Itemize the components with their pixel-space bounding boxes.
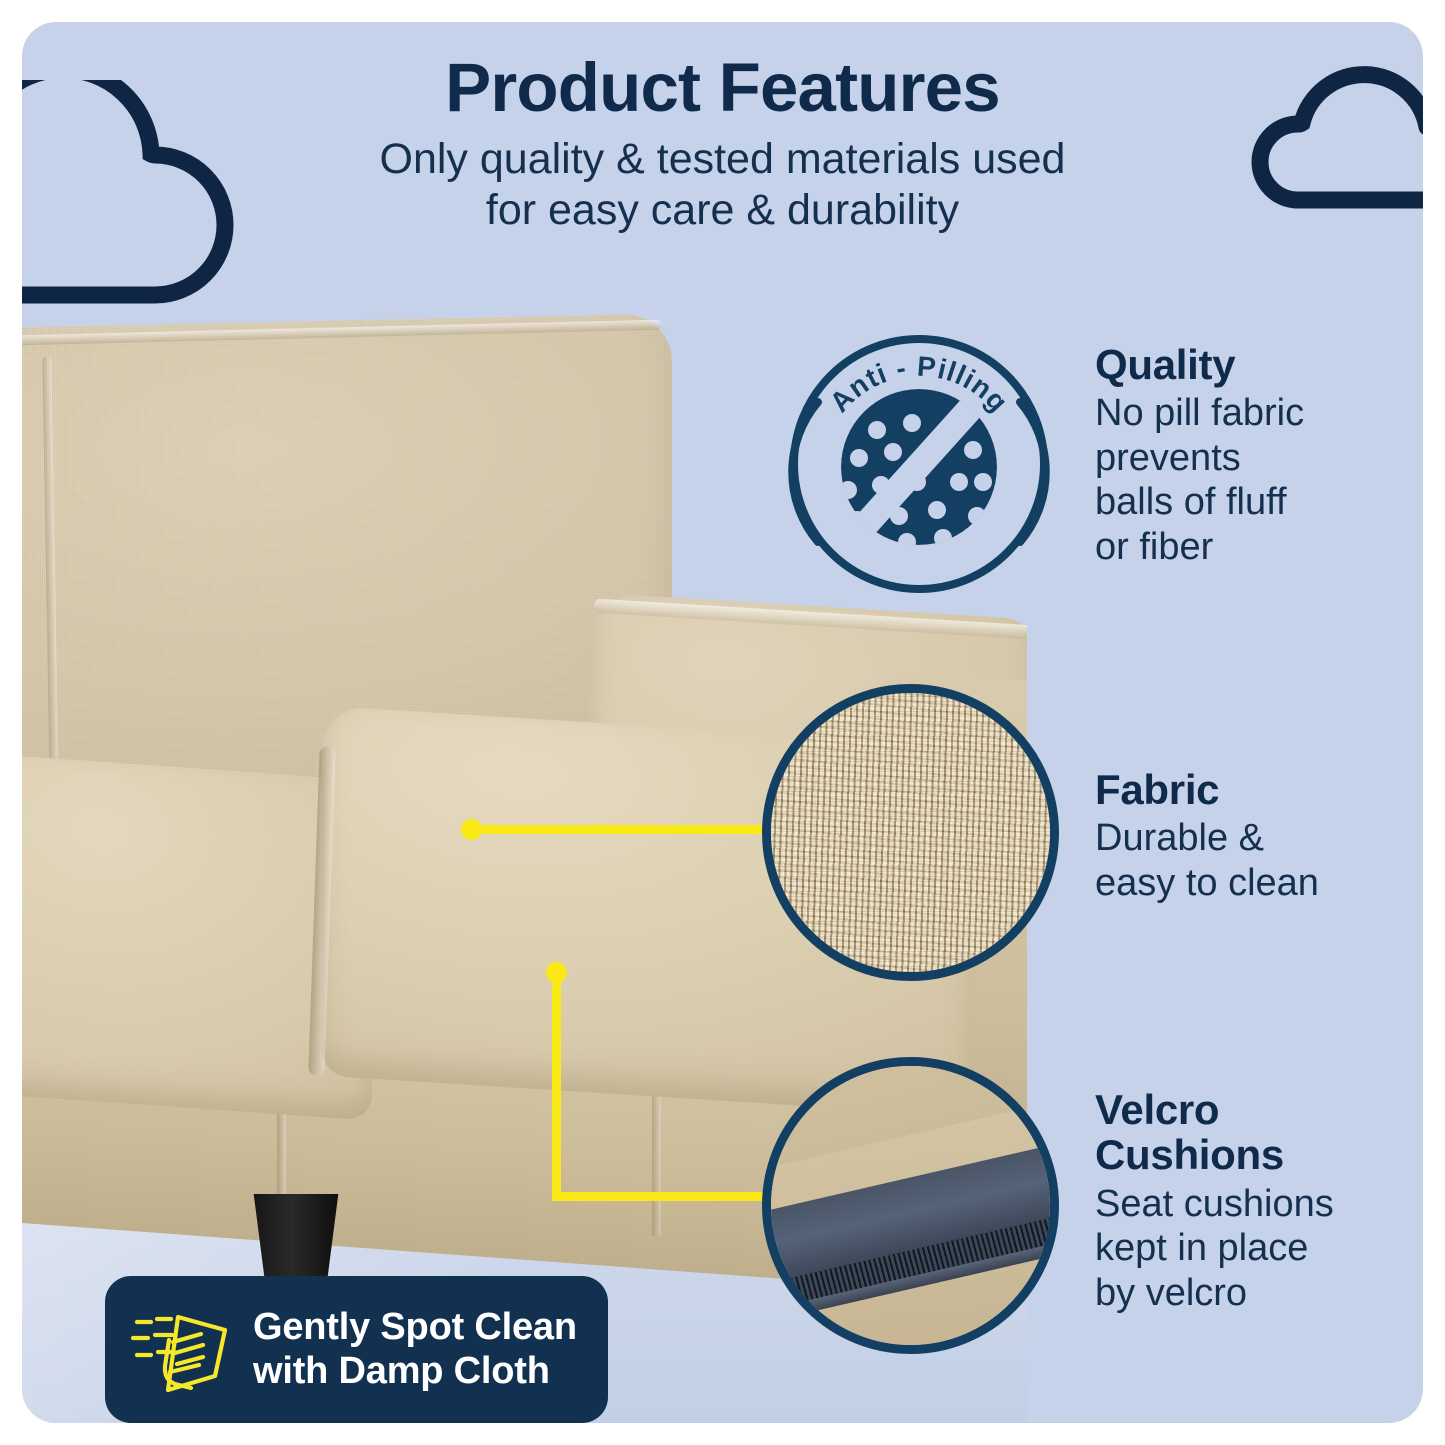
feature-body: Durable & easy to clean [1095, 816, 1395, 905]
feature-body-line: prevents [1095, 436, 1395, 480]
feature-title: Velcro Cushions [1095, 1087, 1395, 1178]
connector-line [552, 972, 561, 1200]
feature-quality: Quality No pill fabric prevents balls of… [1095, 342, 1395, 569]
fabric-texture [762, 684, 1059, 981]
connector-line [552, 1192, 774, 1201]
feature-body-line: or fiber [1095, 525, 1395, 569]
feature-body-line: Durable & [1095, 816, 1395, 860]
care-line-1: Gently Spot Clean [253, 1306, 577, 1349]
feature-body-line: No pill fabric [1095, 391, 1395, 435]
connector-line [471, 825, 771, 834]
feature-body: Seat cushions kept in place by velcro [1095, 1182, 1395, 1315]
feature-body-line: Seat cushions [1095, 1182, 1395, 1226]
feature-title: Fabric [1095, 767, 1395, 812]
wiping-hand-cloth-icon [131, 1300, 239, 1400]
infographic-canvas: Product Features Only quality & tested m… [0, 0, 1445, 1445]
anti-pilling-icon: Anti - Pilling [787, 330, 1052, 595]
care-instruction-badge: Gently Spot Clean with Damp Cloth [105, 1276, 608, 1423]
feature-body-line: easy to clean [1095, 861, 1395, 905]
feature-body-line: kept in place [1095, 1226, 1395, 1270]
feature-body-line: balls of fluff [1095, 480, 1395, 524]
fabric-closeup-lens [762, 684, 1059, 981]
feature-fabric: Fabric Durable & easy to clean [1095, 767, 1395, 905]
feature-body: No pill fabric prevents balls of fluff o… [1095, 391, 1395, 569]
feature-title-line: Cushions [1095, 1132, 1395, 1177]
content-panel: Product Features Only quality & tested m… [22, 22, 1423, 1423]
feature-body-line: by velcro [1095, 1271, 1395, 1315]
velcro-fabric-background [762, 1057, 1059, 1354]
cloud-icon [1248, 52, 1423, 217]
care-instruction-text: Gently Spot Clean with Damp Cloth [253, 1306, 577, 1393]
feature-title-line: Velcro [1095, 1087, 1395, 1132]
feature-velcro: Velcro Cushions Seat cushions kept in pl… [1095, 1087, 1395, 1315]
velcro-closeup-lens [762, 1057, 1059, 1354]
subtitle-line-1: Only quality & tested materials used [380, 135, 1066, 183]
care-line-2: with Damp Cloth [253, 1350, 577, 1393]
feature-title: Quality [1095, 342, 1395, 387]
